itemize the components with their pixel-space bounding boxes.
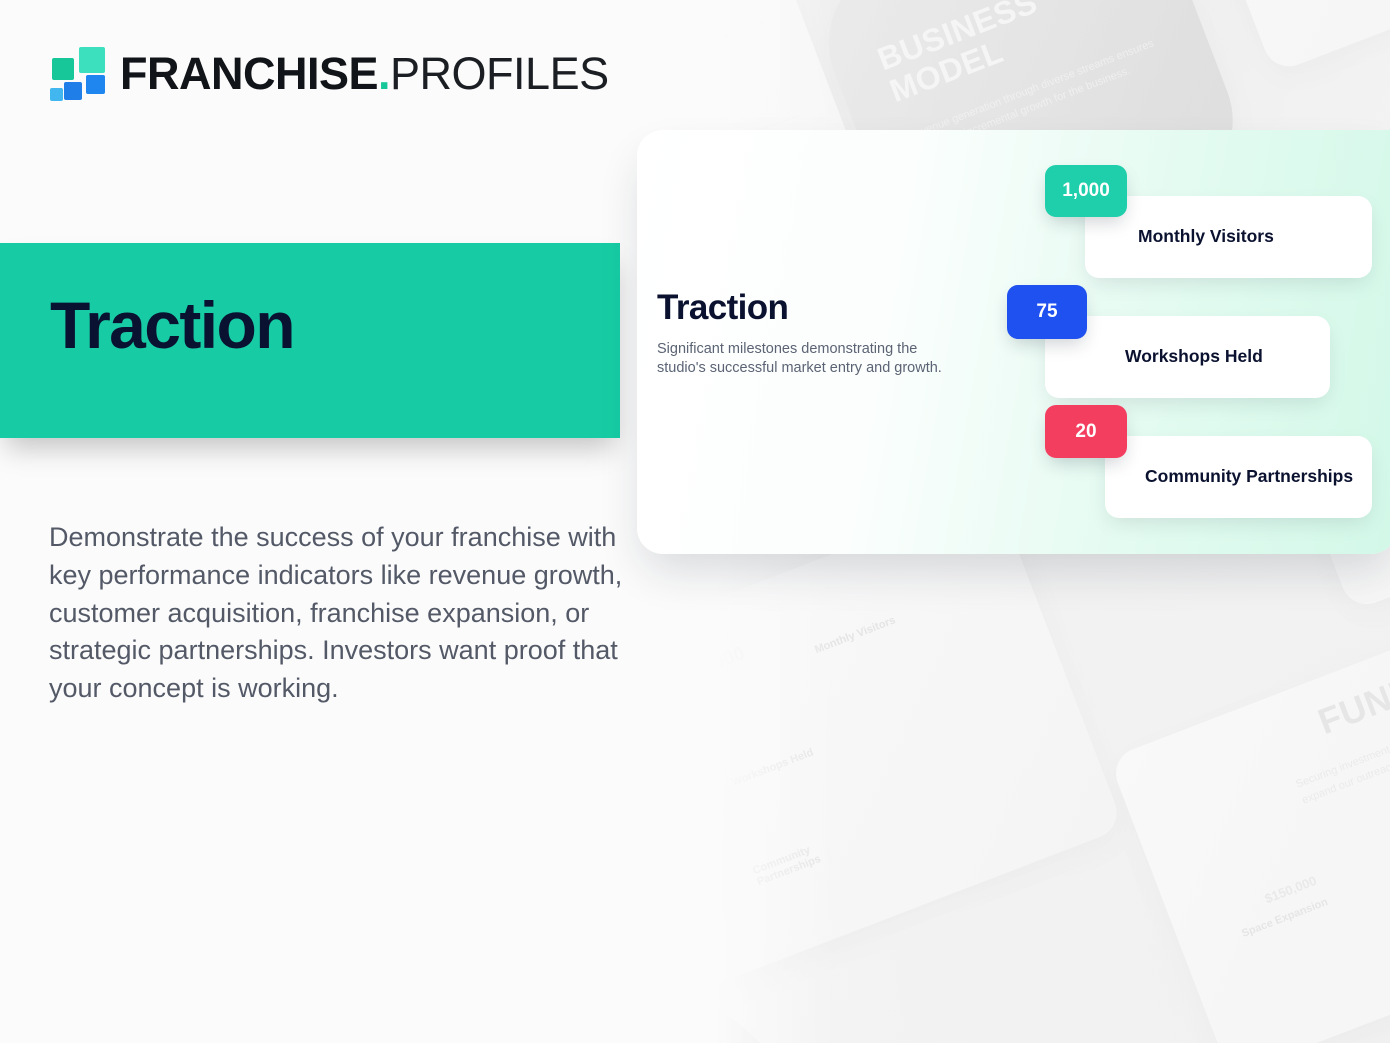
brand-wordmark: FRANCHISE.PROFILES (120, 51, 609, 96)
hero-title-banner: Traction (0, 243, 620, 438)
franchise-profiles-squares-icon (48, 44, 108, 102)
bg-slide-title-fundraising: FUNDRAISING (1313, 614, 1390, 741)
bg-fund-label-space: Space Expansion (1240, 896, 1329, 940)
stat-panel-community-partnerships: Community Partnerships (1105, 436, 1372, 518)
brand-word-franchise: FRANCHISE (120, 48, 378, 99)
brand-word-profiles: PROFILES (390, 48, 609, 99)
stat-list: Monthly Visitors 1,000 Workshops Held 75… (1007, 165, 1382, 525)
stat-badge-workshops-held: 75 (1007, 285, 1087, 339)
stat-row-monthly-visitors: Monthly Visitors 1,000 (1007, 165, 1382, 285)
page-title: Traction (50, 292, 294, 358)
card-header: Traction Significant milestones demonstr… (657, 290, 987, 379)
stat-label-community-partnerships: Community Partnerships (1145, 466, 1353, 488)
bg-slide-fundraising: FUNDRAISING Securing investment to scale… (1108, 590, 1390, 1043)
stat-panel-monthly-visitors: Monthly Visitors (1085, 196, 1372, 278)
stat-label-monthly-visitors: Monthly Visitors (1138, 226, 1274, 248)
stat-row-workshops-held: Workshops Held 75 (1007, 285, 1382, 405)
stat-panel-workshops-held: Workshops Held (1045, 316, 1330, 398)
stat-row-community-partnerships: Community Partnerships 20 (1007, 405, 1382, 525)
card-title: Traction (657, 290, 987, 325)
hero-body-text: Demonstrate the success of your franchis… (49, 519, 629, 708)
stat-badge-community-partnerships: 20 (1045, 405, 1127, 458)
stat-label-workshops-held: Workshops Held (1125, 346, 1263, 368)
stat-badge-monthly-visitors: 1,000 (1045, 165, 1127, 217)
brand-logo[interactable]: FRANCHISE.PROFILES (48, 42, 609, 104)
traction-preview-card: Traction Significant milestones demonstr… (637, 130, 1390, 554)
brand-word-dot: . (378, 48, 390, 99)
card-subtitle: Significant milestones demonstrating the… (657, 340, 957, 379)
